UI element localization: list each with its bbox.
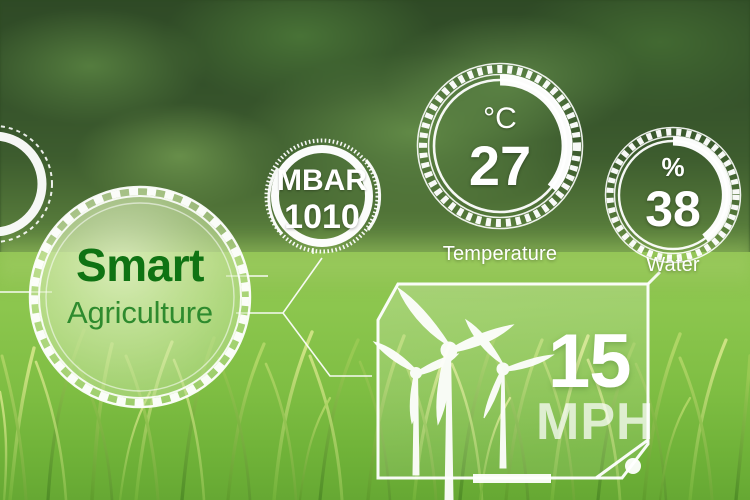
gauge-partial-left	[0, 126, 52, 242]
gauge-pressure-value: 1010	[272, 198, 372, 237]
gauge-pressure-unit: MBAR	[272, 164, 372, 198]
gauge-water-value: 38	[628, 180, 718, 238]
gauge-temperature-label: Temperature	[420, 243, 580, 266]
status-dot-icon	[625, 458, 641, 474]
brand-subtitle: Agriculture	[26, 295, 254, 331]
gauge-temperature-unit: °C	[455, 102, 545, 136]
brand-title: Smart	[40, 238, 240, 292]
screenshot-canvas: Smart Agriculture MBAR 1010 °C 27 Temper…	[0, 0, 750, 500]
gauge-temperature-value: 27	[450, 133, 550, 198]
wind-speed-unit: MPH	[536, 392, 655, 452]
gauge-water-unit: %	[633, 152, 713, 183]
panel-bottom-tab	[473, 474, 551, 483]
gauge-water-label: Water	[613, 254, 733, 277]
